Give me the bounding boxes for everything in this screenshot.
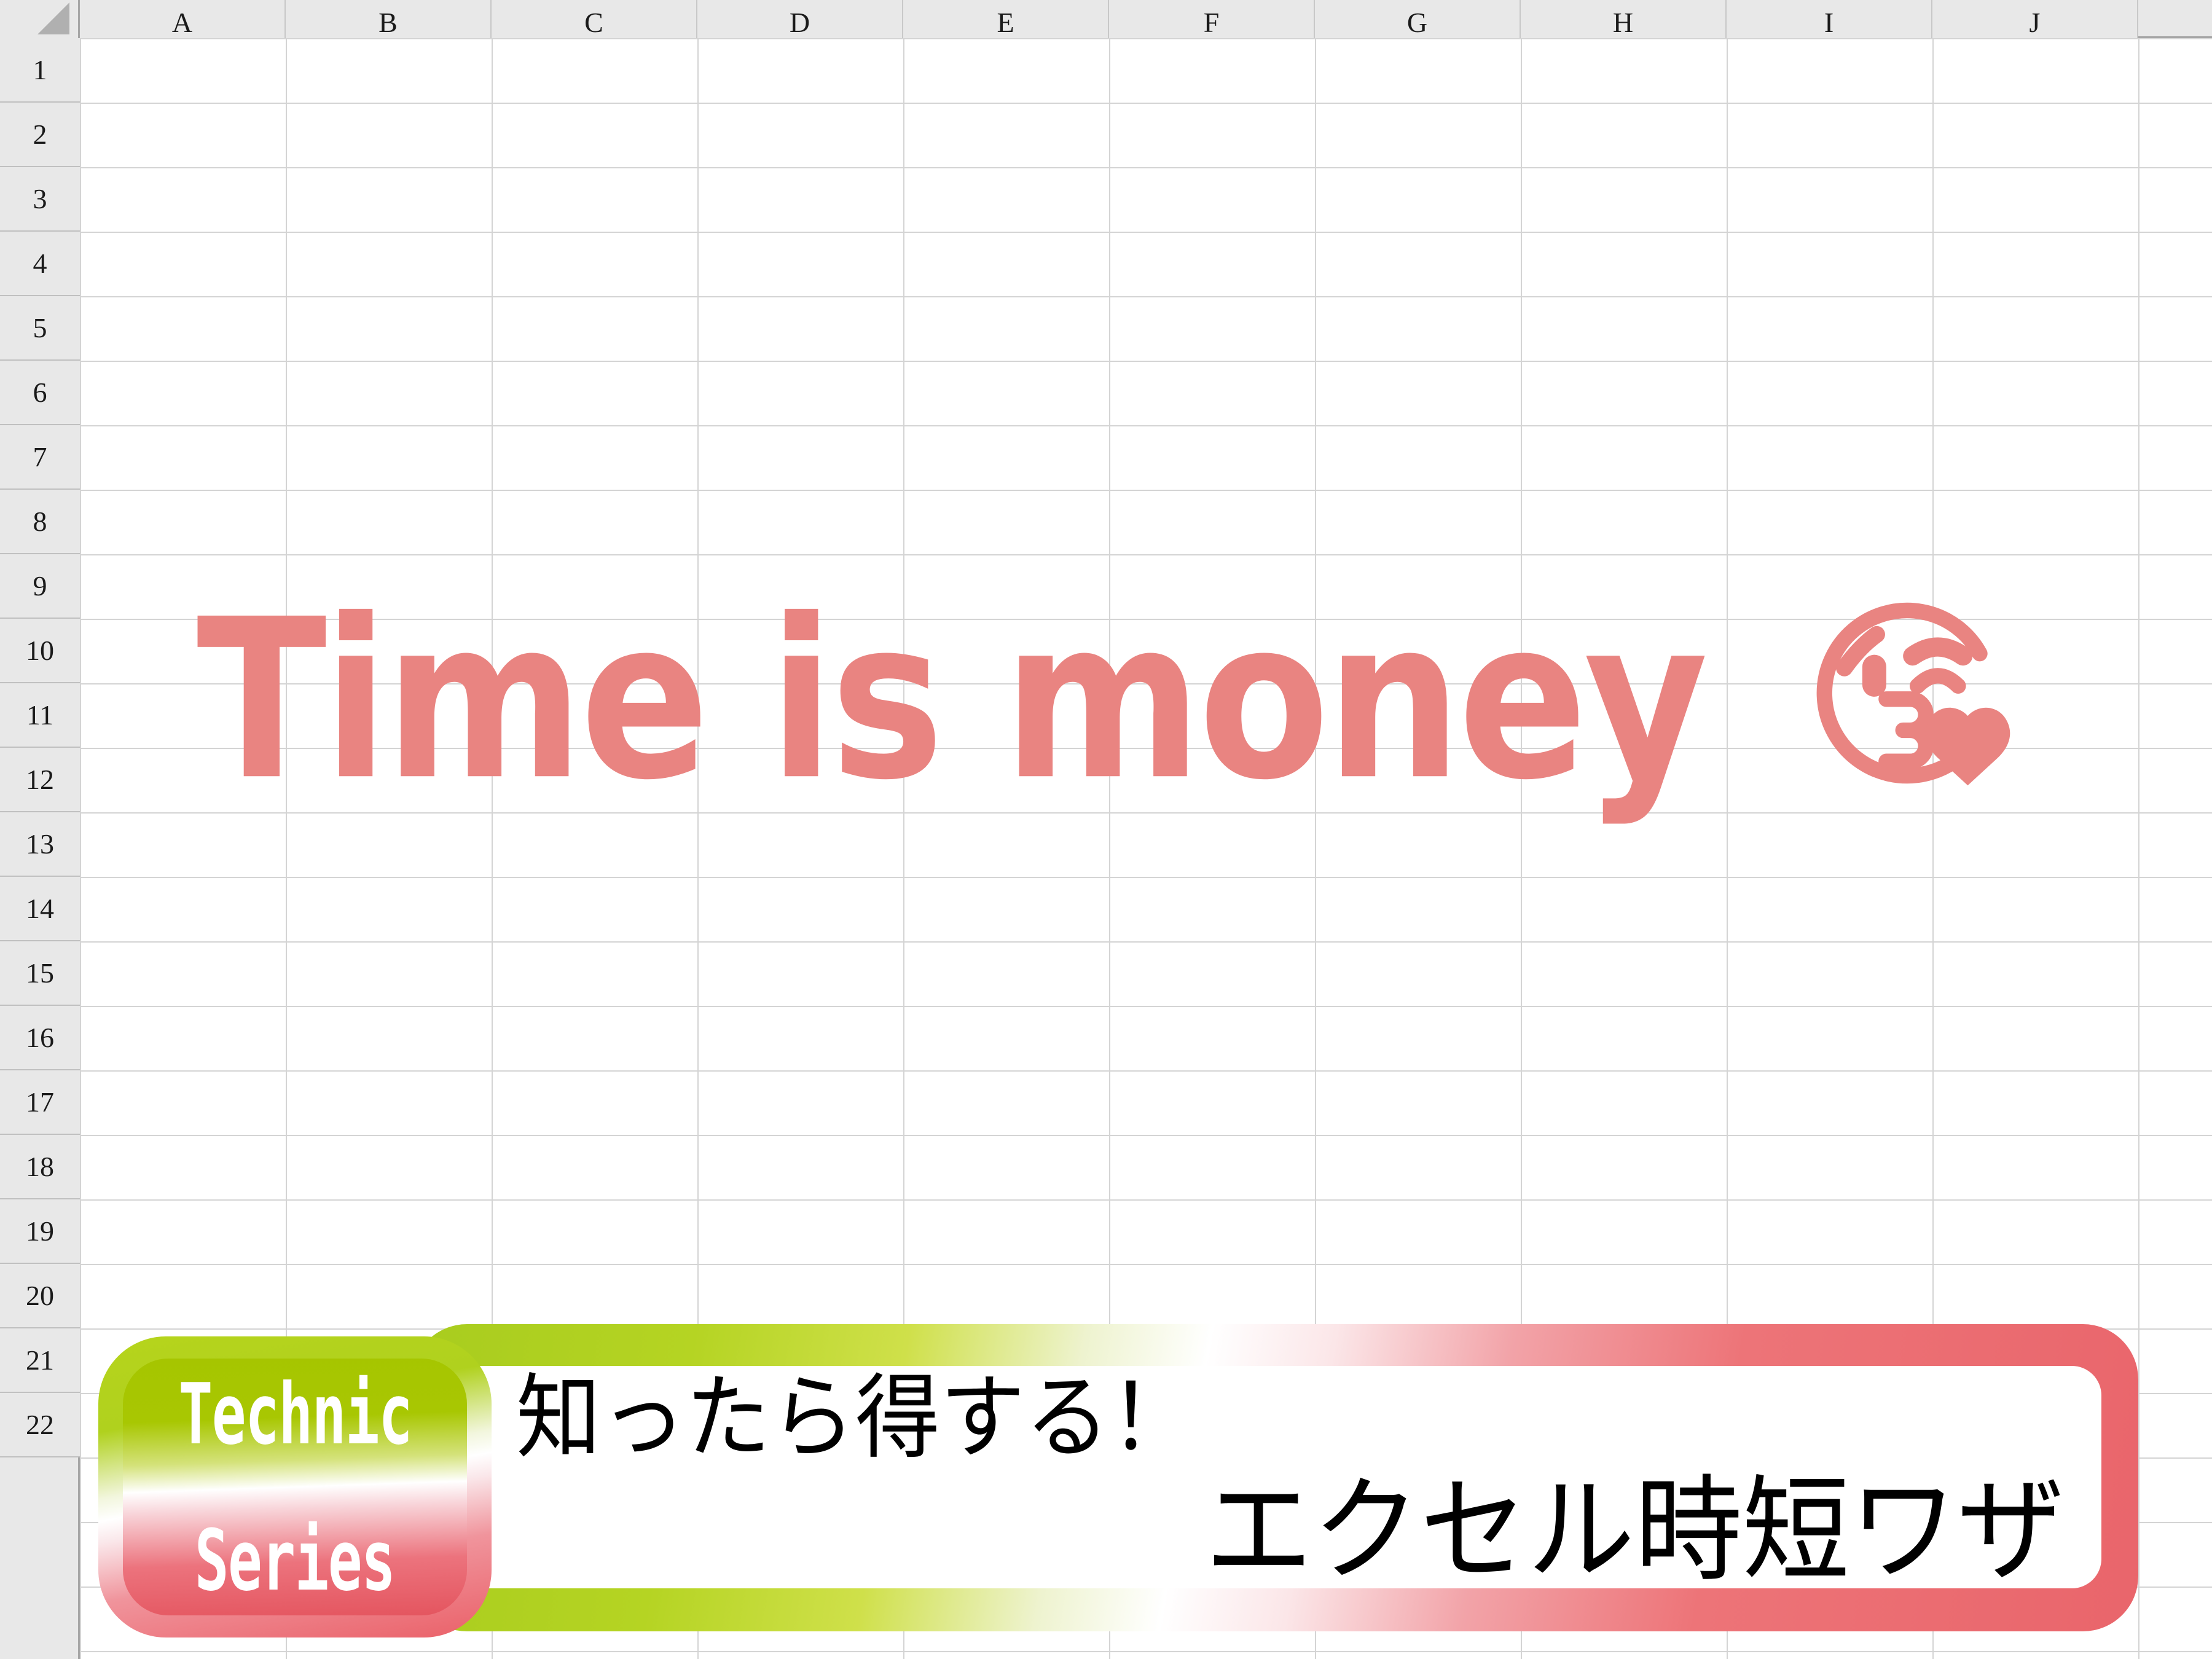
badge-label-technic: Technic bbox=[178, 1373, 412, 1457]
column-header-b[interactable]: B bbox=[286, 0, 492, 38]
technic-series-badge: Technic Series bbox=[98, 1336, 492, 1637]
select-all-button[interactable] bbox=[0, 0, 80, 38]
spreadsheet-canvas: A B C D E F G H I J 1 2 3 4 5 6 7 8 9 10… bbox=[0, 0, 2212, 1659]
row-header-18[interactable]: 18 bbox=[0, 1135, 80, 1199]
column-header-e[interactable]: E bbox=[903, 0, 1109, 38]
column-header-f[interactable]: F bbox=[1109, 0, 1315, 38]
row-header-15[interactable]: 15 bbox=[0, 941, 80, 1006]
row-header-2[interactable]: 2 bbox=[0, 103, 80, 167]
column-header-h[interactable]: H bbox=[1521, 0, 1727, 38]
badge-label-series: Series bbox=[195, 1520, 395, 1604]
row-header-17[interactable]: 17 bbox=[0, 1070, 80, 1135]
select-all-triangle-icon bbox=[37, 2, 69, 34]
technic-series-badge-inner: Technic Series bbox=[123, 1359, 467, 1615]
row-header-7[interactable]: 7 bbox=[0, 425, 80, 490]
bottom-banner: 知ったら得する！ エクセル時短ワザ Technic Series bbox=[98, 1324, 2138, 1644]
row-header-3[interactable]: 3 bbox=[0, 167, 80, 232]
row-header-21[interactable]: 21 bbox=[0, 1328, 80, 1393]
row-header-1[interactable]: 1 bbox=[0, 38, 80, 103]
column-header-i[interactable]: I bbox=[1727, 0, 1932, 38]
row-header-10[interactable]: 10 bbox=[0, 619, 80, 683]
row-header-6[interactable]: 6 bbox=[0, 361, 80, 425]
row-header-22[interactable]: 22 bbox=[0, 1393, 80, 1457]
face-blowing-a-kiss-icon bbox=[1788, 575, 2028, 814]
column-header-j[interactable]: J bbox=[1932, 0, 2138, 38]
row-header-14[interactable]: 14 bbox=[0, 877, 80, 941]
banner-subheadline: エクセル時短ワザ bbox=[609, 1470, 2065, 1590]
column-header-c[interactable]: C bbox=[492, 0, 697, 38]
row-header-11[interactable]: 11 bbox=[0, 683, 80, 748]
banner-text-block: 知ったら得する！ エクセル時短ワザ bbox=[442, 1366, 2101, 1588]
row-header-band: 1 2 3 4 5 6 7 8 9 10 11 12 13 14 15 16 1… bbox=[0, 38, 80, 1659]
row-header-9[interactable]: 9 bbox=[0, 554, 80, 619]
row-header-8[interactable]: 8 bbox=[0, 490, 80, 554]
row-header-16[interactable]: 16 bbox=[0, 1006, 80, 1070]
row-header-12[interactable]: 12 bbox=[0, 748, 80, 812]
column-header-d[interactable]: D bbox=[697, 0, 903, 38]
row-header-4[interactable]: 4 bbox=[0, 232, 80, 296]
column-header-a[interactable]: A bbox=[80, 0, 286, 38]
row-header-19[interactable]: 19 bbox=[0, 1199, 80, 1264]
row-header-5[interactable]: 5 bbox=[0, 296, 80, 361]
row-header-20[interactable]: 20 bbox=[0, 1264, 80, 1328]
column-header-band: A B C D E F G H I J bbox=[0, 0, 2212, 38]
row-header-13[interactable]: 13 bbox=[0, 812, 80, 877]
banner-headline: 知ったら得する！ bbox=[516, 1370, 1940, 1467]
column-header-g[interactable]: G bbox=[1315, 0, 1521, 38]
